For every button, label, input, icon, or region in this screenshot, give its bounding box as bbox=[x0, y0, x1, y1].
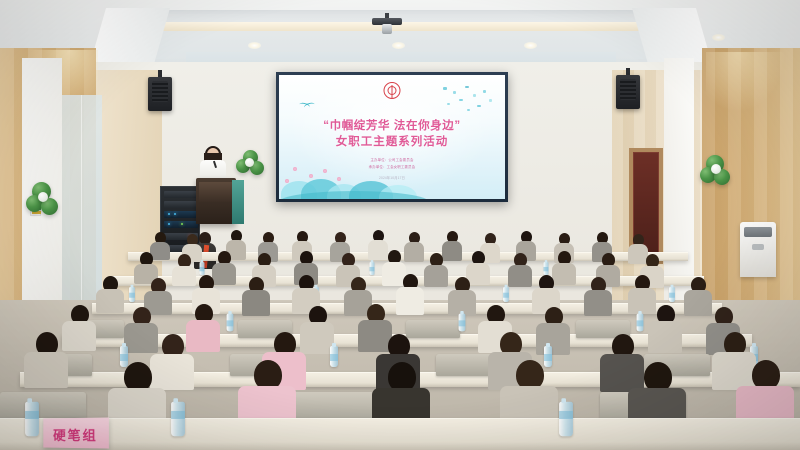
audience-member bbox=[736, 360, 794, 424]
downlight-icon bbox=[392, 42, 405, 49]
wall-glow-right bbox=[706, 52, 786, 112]
audience-member bbox=[24, 332, 68, 384]
projection-screen-frame: “巾帼绽芳华 法在你身边” 女职工主题系列活动 主办单位：公司工会委员会 承办单… bbox=[276, 72, 508, 202]
union-emblem-icon bbox=[384, 82, 401, 99]
audience-member bbox=[242, 277, 270, 313]
water-dispenser-icon bbox=[740, 222, 776, 277]
water-bottle-icon bbox=[25, 402, 39, 437]
downlight-icon bbox=[712, 34, 725, 41]
projection-screen: “巾帼绽芳华 法在你身边” 女职工主题系列活动 主办单位：公司工会委员会 承办单… bbox=[279, 75, 505, 199]
audience-member bbox=[108, 362, 166, 424]
confetti-graphic bbox=[439, 85, 497, 119]
audience-member bbox=[536, 307, 570, 351]
slide-subtitle-line1: 主办单位：公司工会委员会 bbox=[279, 157, 505, 162]
water-bottle-icon bbox=[669, 287, 675, 302]
water-bottle-icon bbox=[227, 314, 234, 332]
podium bbox=[196, 178, 236, 224]
water-bottle-icon bbox=[171, 402, 185, 437]
audience-member bbox=[584, 277, 612, 313]
presenter bbox=[198, 148, 228, 182]
projector-icon bbox=[372, 13, 402, 35]
balloon-cluster-left bbox=[26, 182, 68, 226]
audience-member bbox=[508, 253, 532, 285]
audience-member bbox=[396, 274, 424, 312]
audience-member bbox=[648, 305, 682, 349]
water-bottle-icon bbox=[330, 346, 338, 367]
water-bottle-icon bbox=[559, 402, 573, 437]
name-card-label: 硬笔组 bbox=[43, 425, 109, 445]
wall-speaker-icon bbox=[148, 77, 172, 111]
conference-hall-scene: “巾帼绽芳华 法在你身边” 女职工主题系列活动 主办单位：公司工会委员会 承办单… bbox=[0, 0, 800, 450]
slide-title-line1: “巾帼绽芳华 法在你身边” bbox=[279, 117, 505, 133]
audience-member bbox=[532, 275, 560, 311]
audience-member bbox=[238, 360, 296, 424]
audience-member bbox=[372, 362, 430, 426]
water-bottle-icon bbox=[544, 262, 549, 275]
desk-row-front bbox=[0, 418, 800, 450]
water-bottle-icon bbox=[503, 287, 509, 302]
audience-member bbox=[424, 253, 448, 285]
podium-side-panel bbox=[232, 180, 244, 224]
water-bottle-icon bbox=[200, 262, 205, 275]
bird-graphic-icon bbox=[299, 103, 315, 111]
balloon-cluster-right bbox=[700, 155, 742, 199]
audience-member bbox=[96, 276, 124, 310]
water-bottle-icon bbox=[637, 314, 644, 332]
wave-decoration bbox=[279, 165, 505, 199]
audience-member bbox=[404, 232, 424, 260]
slide-title-line2: 女职工主题系列活动 bbox=[279, 133, 505, 149]
water-bottle-icon bbox=[129, 287, 135, 302]
audience-member bbox=[448, 277, 476, 313]
audience-member bbox=[628, 362, 686, 426]
downlight-icon bbox=[248, 42, 261, 49]
water-bottle-icon bbox=[370, 262, 375, 275]
downlight-icon bbox=[524, 42, 537, 49]
water-bottle-icon bbox=[459, 314, 466, 332]
table-name-card: 硬笔组 bbox=[43, 417, 109, 448]
audience-member bbox=[500, 360, 558, 424]
wall-speaker-icon bbox=[616, 75, 640, 109]
